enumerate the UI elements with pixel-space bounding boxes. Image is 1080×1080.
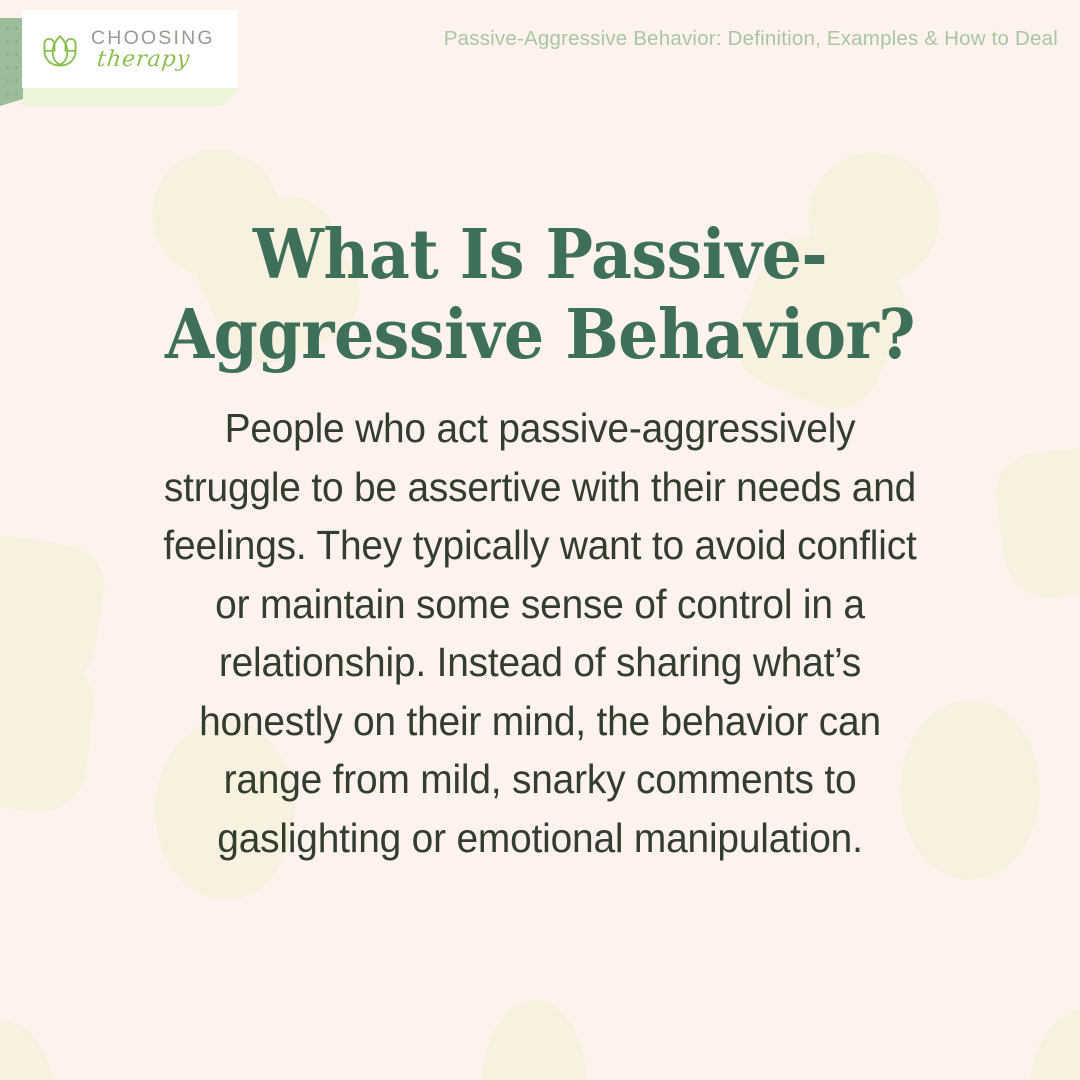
body-paragraph: People who act passive-aggressively stru…: [156, 399, 924, 867]
logo-secondary-text: therapy: [96, 49, 216, 71]
logo-primary-text: CHOOSING: [91, 29, 215, 49]
brand-logo[interactable]: CHOOSING therapy: [22, 10, 238, 88]
tulip-leaf-icon: [38, 27, 82, 71]
logo-wordmark: CHOOSING therapy: [91, 27, 215, 72]
poster-canvas: CHOOSING therapy Passive-Aggressive Beha…: [0, 0, 1080, 1080]
main-content: What Is Passive-Aggressive Behavior? Peo…: [0, 0, 1080, 1080]
article-title-header: Passive-Aggressive Behavior: Definition,…: [444, 27, 1058, 51]
page-title: What Is Passive-Aggressive Behavior?: [108, 215, 971, 375]
